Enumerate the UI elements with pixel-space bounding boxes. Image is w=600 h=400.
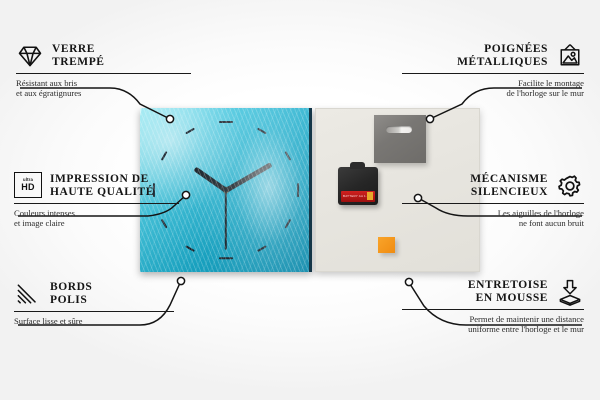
clock-tick <box>219 121 233 123</box>
feature-title-2: HAUTE QUALITÉ <box>50 186 154 199</box>
feature-verre-trempe: VERRE TREMPÉ Résistant aux bris et aux é… <box>16 42 216 99</box>
clock-tick <box>285 151 291 160</box>
feature-title: VERRE <box>52 43 105 56</box>
feature-desc-1: Résistant aux bris <box>16 78 216 88</box>
feature-title: IMPRESSION DE <box>50 173 154 186</box>
feature-impression-haute-qualite: ultra HD IMPRESSION DE HAUTE QUALITÉ Cou… <box>14 172 214 229</box>
feature-desc-1: Les aiguilles de l'horloge <box>384 208 584 218</box>
clock-tick <box>257 128 266 134</box>
infographic-canvas: BATTERY AA 1.5V <box>0 0 600 400</box>
clock-tick <box>185 245 194 251</box>
gear-icon <box>556 172 584 200</box>
clock-tick <box>297 183 299 197</box>
clock-tick <box>257 245 266 251</box>
feature-desc-2: uniforme entre l'horloge et le mur <box>384 324 584 334</box>
hanging-frame-icon <box>556 42 584 70</box>
clock-second-hand <box>225 190 227 250</box>
divider <box>402 203 584 204</box>
feature-desc-2: et aux égratignures <box>16 88 216 98</box>
divider <box>16 73 191 74</box>
foam-spacer-icon <box>556 278 584 306</box>
clock-minute-hand <box>225 162 272 192</box>
feature-desc-1: Surface lisse et sûre <box>14 316 214 326</box>
feature-title: POIGNÉES <box>457 43 548 56</box>
feature-poignees-metalliques: POIGNÉES MÉTALLIQUES Facilite le montage… <box>384 42 584 99</box>
feature-desc-1: Facilite le montage <box>384 78 584 88</box>
hanger-slot <box>386 126 412 133</box>
divider <box>14 311 174 312</box>
polished-edge-icon <box>14 280 42 308</box>
feature-title: BORDS <box>50 281 92 294</box>
mechanism-hanging-tab <box>350 162 365 169</box>
metal-hanger-plate <box>374 115 426 163</box>
feature-title: MÉCANISME <box>470 173 548 186</box>
clock-tick <box>160 151 166 160</box>
feature-title-2: POLIS <box>50 294 92 307</box>
clock-tick <box>285 219 291 228</box>
feature-desc-2: ne font aucun bruit <box>384 218 584 228</box>
feature-entretoise-en-mousse: ENTRETOISE EN MOUSSE Permet de maintenir… <box>384 278 584 335</box>
clock-tick <box>219 257 233 259</box>
feature-title-2: EN MOUSSE <box>468 292 548 305</box>
foam-spacer-pad <box>378 237 395 253</box>
feature-bords-polis: BORDS POLIS Surface lisse et sûre <box>14 280 214 326</box>
feature-title-2: MÉTALLIQUES <box>457 56 548 69</box>
divider <box>14 203 179 204</box>
feature-title-2: TREMPÉ <box>52 56 105 69</box>
ultra-hd-icon-big-text: HD <box>21 183 35 192</box>
divider <box>402 309 584 310</box>
feature-title-2: SILENCIEUX <box>470 186 548 199</box>
battery: BATTERY AA 1.5V <box>341 191 375 202</box>
feature-desc-2: de l'horloge sur le mur <box>384 88 584 98</box>
clock-tick <box>185 128 194 134</box>
feature-desc-1: Permet de maintenir une distance <box>384 314 584 324</box>
feature-desc-2: et image claire <box>14 218 214 228</box>
feature-mecanisme-silencieux: MÉCANISME SILENCIEUX Les aiguilles de l'… <box>384 172 584 229</box>
ultra-hd-icon: ultra HD <box>14 172 42 200</box>
feature-desc-1: Couleurs intenses <box>14 208 214 218</box>
diamond-icon <box>16 42 44 70</box>
divider <box>402 73 584 74</box>
battery-plus-terminal <box>367 192 373 200</box>
clock-mechanism-box: BATTERY AA 1.5V <box>338 167 378 205</box>
feature-title: ENTRETOISE <box>468 279 548 292</box>
